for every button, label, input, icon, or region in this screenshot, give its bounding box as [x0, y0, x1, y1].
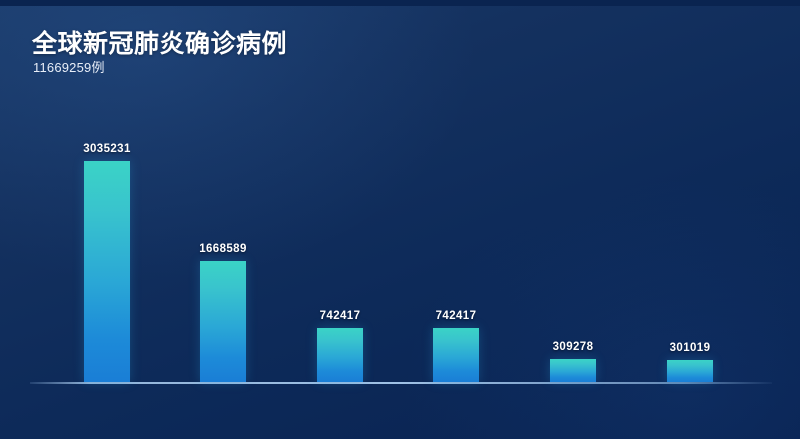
bar-value-label: 1668589 [164, 243, 282, 255]
bar-chile[interactable] [667, 360, 713, 382]
bar-peru[interactable] [550, 359, 596, 382]
bar-russia[interactable] [433, 328, 479, 382]
bar-wrapper: 3035231 [48, 52, 166, 382]
bar-wrapper: 742417 [281, 52, 399, 382]
bar-wrapper: 301019 [631, 52, 749, 382]
bar-group-3: 742417 俄罗斯 [397, 52, 515, 382]
bar-group-5: 301019 智利 [631, 52, 749, 382]
bar-value-label: 742417 [397, 310, 515, 322]
bar-wrapper: 742417 [397, 52, 515, 382]
plot-area: 3035231 美国 1668589 巴西 742417 印度 742417 俄… [0, 0, 800, 439]
baseline-axis [30, 382, 772, 384]
bar-group-2: 742417 印度 [281, 52, 399, 382]
bar-brazil[interactable] [200, 261, 246, 382]
bar-wrapper: 309278 [514, 52, 632, 382]
bar-usa[interactable] [84, 161, 130, 382]
bar-wrapper: 1668589 [164, 52, 282, 382]
bar-india[interactable] [317, 328, 363, 382]
bar-value-label: 309278 [514, 341, 632, 353]
bar-value-label: 301019 [631, 342, 749, 354]
bar-value-label: 742417 [281, 310, 399, 322]
chart-canvas: 全球新冠肺炎确诊病例 11669259例 3035231 美国 1668589 … [0, 0, 800, 439]
bar-group-0: 3035231 美国 [48, 52, 166, 382]
bar-group-1: 1668589 巴西 [164, 52, 282, 382]
bar-group-4: 309278 秘鲁 [514, 52, 632, 382]
bar-value-label: 3035231 [48, 143, 166, 155]
